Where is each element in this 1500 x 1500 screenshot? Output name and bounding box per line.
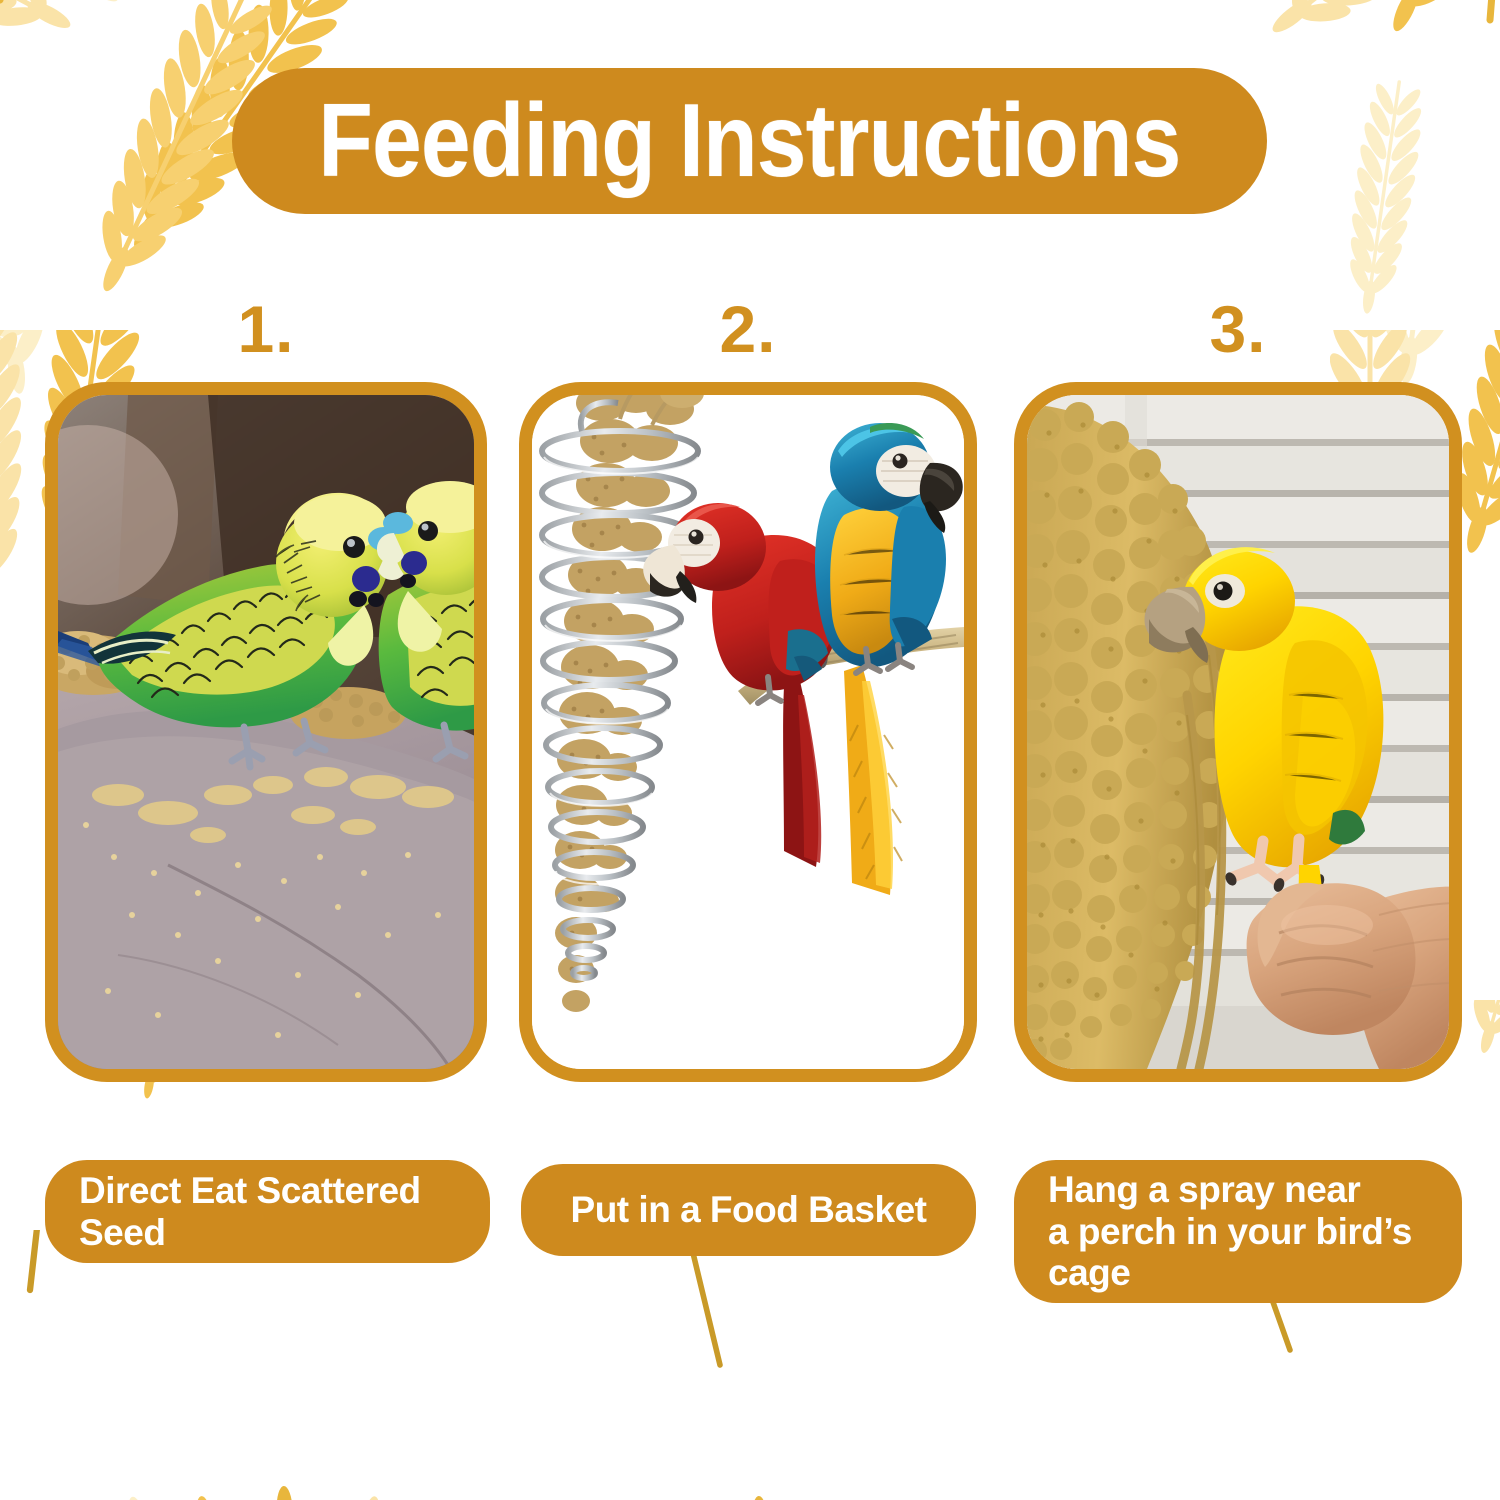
page-title: Feeding Instructions <box>318 89 1180 193</box>
photo-two-budgies-eating-scattered-millet-on-stone <box>58 395 474 1069</box>
caption-line: Hang a spray near <box>1048 1169 1360 1210</box>
infographic-page: Feeding Instructions 1. <box>0 0 1500 1500</box>
step-photo-card-1 <box>45 382 487 1082</box>
step-column-2: 2. <box>519 296 977 1082</box>
caption-line: a perch in your bird’s <box>1048 1211 1412 1252</box>
step-caption-3-text: Hang a spray near a perch in your bird’s… <box>1048 1169 1412 1293</box>
photo-millet-spray-in-metal-spiral-food-basket-with-macaws <box>532 395 964 1069</box>
page-title-pill: Feeding Instructions <box>232 68 1267 214</box>
step-photo-card-3 <box>1014 382 1462 1082</box>
caption-line: cage <box>1048 1252 1130 1293</box>
caption-line: Seed <box>79 1212 165 1253</box>
wheat-bottom-left <box>20 1230 450 1500</box>
wheat-bottom-center <box>430 1245 1090 1500</box>
photo-golden-conure-on-hand-eating-hanging-millet-sprays <box>1027 395 1449 1069</box>
step-number-1: 1. <box>45 296 487 368</box>
step-caption-1-text: Direct Eat Scattered Seed <box>79 1170 421 1253</box>
step-column-1: 1. <box>45 296 487 1082</box>
step-caption-2-text: Put in a Food Basket <box>571 1189 927 1230</box>
caption-line: Direct Eat Scattered <box>79 1170 421 1211</box>
step-caption-2: Put in a Food Basket <box>521 1164 976 1256</box>
step-number-2: 2. <box>519 296 977 368</box>
step-photo-card-2 <box>519 382 977 1082</box>
step-number-3: 3. <box>1014 296 1462 368</box>
step-caption-3: Hang a spray near a perch in your bird’s… <box>1014 1160 1462 1303</box>
step-column-3: 3. <box>1014 296 1462 1082</box>
step-caption-1: Direct Eat Scattered Seed <box>45 1160 490 1263</box>
